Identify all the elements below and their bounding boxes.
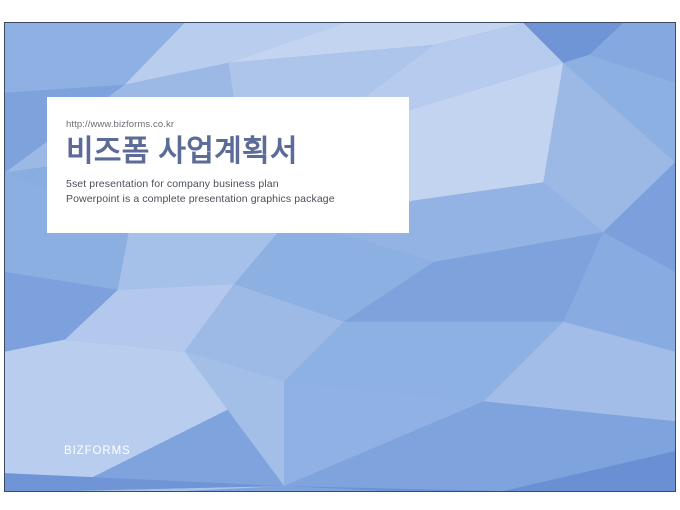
footer-brand: BIZFORMS — [64, 444, 131, 458]
subtitle-line-2: Powerpoint is a complete presentation gr… — [66, 192, 409, 207]
subtitle-line-1: 5set presentation for company business p… — [66, 177, 409, 192]
title-card: http://www.bizforms.co.kr 비즈폼 사업계획서 5set… — [47, 97, 409, 233]
presentation-slide: http://www.bizforms.co.kr 비즈폼 사업계획서 5set… — [4, 22, 676, 492]
site-url: http://www.bizforms.co.kr — [66, 119, 409, 131]
low-poly-background — [5, 23, 675, 491]
page-title: 비즈폼 사업계획서 — [66, 133, 409, 170]
